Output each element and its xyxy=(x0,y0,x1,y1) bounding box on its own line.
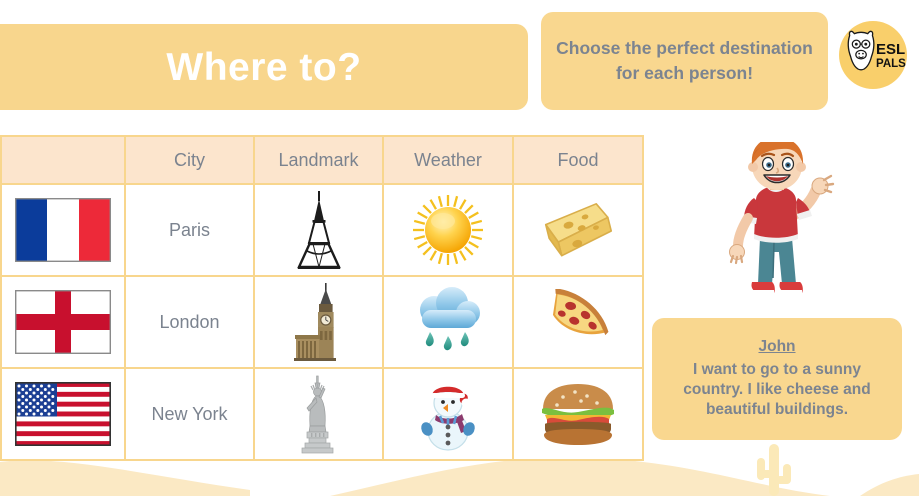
weather-cell xyxy=(383,184,513,276)
city-cell: Paris xyxy=(125,184,254,276)
instruction-box: Choose the perfect destination for each … xyxy=(541,12,828,110)
statue-of-liberty-icon xyxy=(294,374,344,454)
flag-cell xyxy=(1,368,125,460)
city-cell: London xyxy=(125,276,254,368)
person-name: John xyxy=(664,337,890,357)
destination-table-wrapper: City Landmark Weather Food Paris xyxy=(0,135,642,461)
flag-cell xyxy=(1,276,125,368)
person-description: I want to go to a sunny country. I like … xyxy=(683,361,871,419)
esl-pals-logo: ESL PALS xyxy=(838,20,908,90)
column-header-landmark: Landmark xyxy=(254,136,383,184)
svg-text:ESL: ESL xyxy=(876,41,905,58)
landmark-cell xyxy=(254,184,383,276)
landmark-cell xyxy=(254,276,383,368)
snowman-icon xyxy=(412,375,484,453)
title-banner: Where to? xyxy=(0,24,528,110)
hamburger-icon xyxy=(537,381,619,447)
table-row[interactable]: Paris xyxy=(1,184,643,276)
column-header-weather: Weather xyxy=(383,136,513,184)
city-cell: New York xyxy=(125,368,254,460)
big-ben-icon xyxy=(286,283,352,361)
landmark-cell xyxy=(254,368,383,460)
cactus-icon xyxy=(752,440,796,496)
weather-cell xyxy=(383,368,513,460)
column-header-city: City xyxy=(125,136,254,184)
instruction-text: Choose the perfect destination for each … xyxy=(541,36,828,86)
waving-boy-illustration xyxy=(700,142,860,302)
table-row[interactable]: London xyxy=(1,276,643,368)
table-header-row: City Landmark Weather Food xyxy=(1,136,643,184)
table-row[interactable]: New York xyxy=(1,368,643,460)
food-cell xyxy=(513,368,643,460)
weather-cell xyxy=(383,276,513,368)
flag-cell xyxy=(1,184,125,276)
sun-icon xyxy=(411,193,485,267)
eiffel-tower-icon xyxy=(293,191,345,269)
destination-table: City Landmark Weather Food Paris xyxy=(0,135,644,461)
food-cell xyxy=(513,184,643,276)
svg-text:PALS: PALS xyxy=(876,58,906,70)
column-header-food: Food xyxy=(513,136,643,184)
page-title: Where to? xyxy=(166,48,361,87)
rain-cloud-icon xyxy=(408,284,488,360)
england-flag xyxy=(15,290,111,354)
pizza-slice-icon xyxy=(538,289,618,355)
cheese-icon xyxy=(540,199,616,261)
food-cell xyxy=(513,276,643,368)
france-flag xyxy=(15,198,111,262)
column-header-flag xyxy=(1,136,125,184)
person-description-box: John I want to go to a sunny country. I … xyxy=(652,318,902,440)
usa-flag xyxy=(15,382,111,446)
